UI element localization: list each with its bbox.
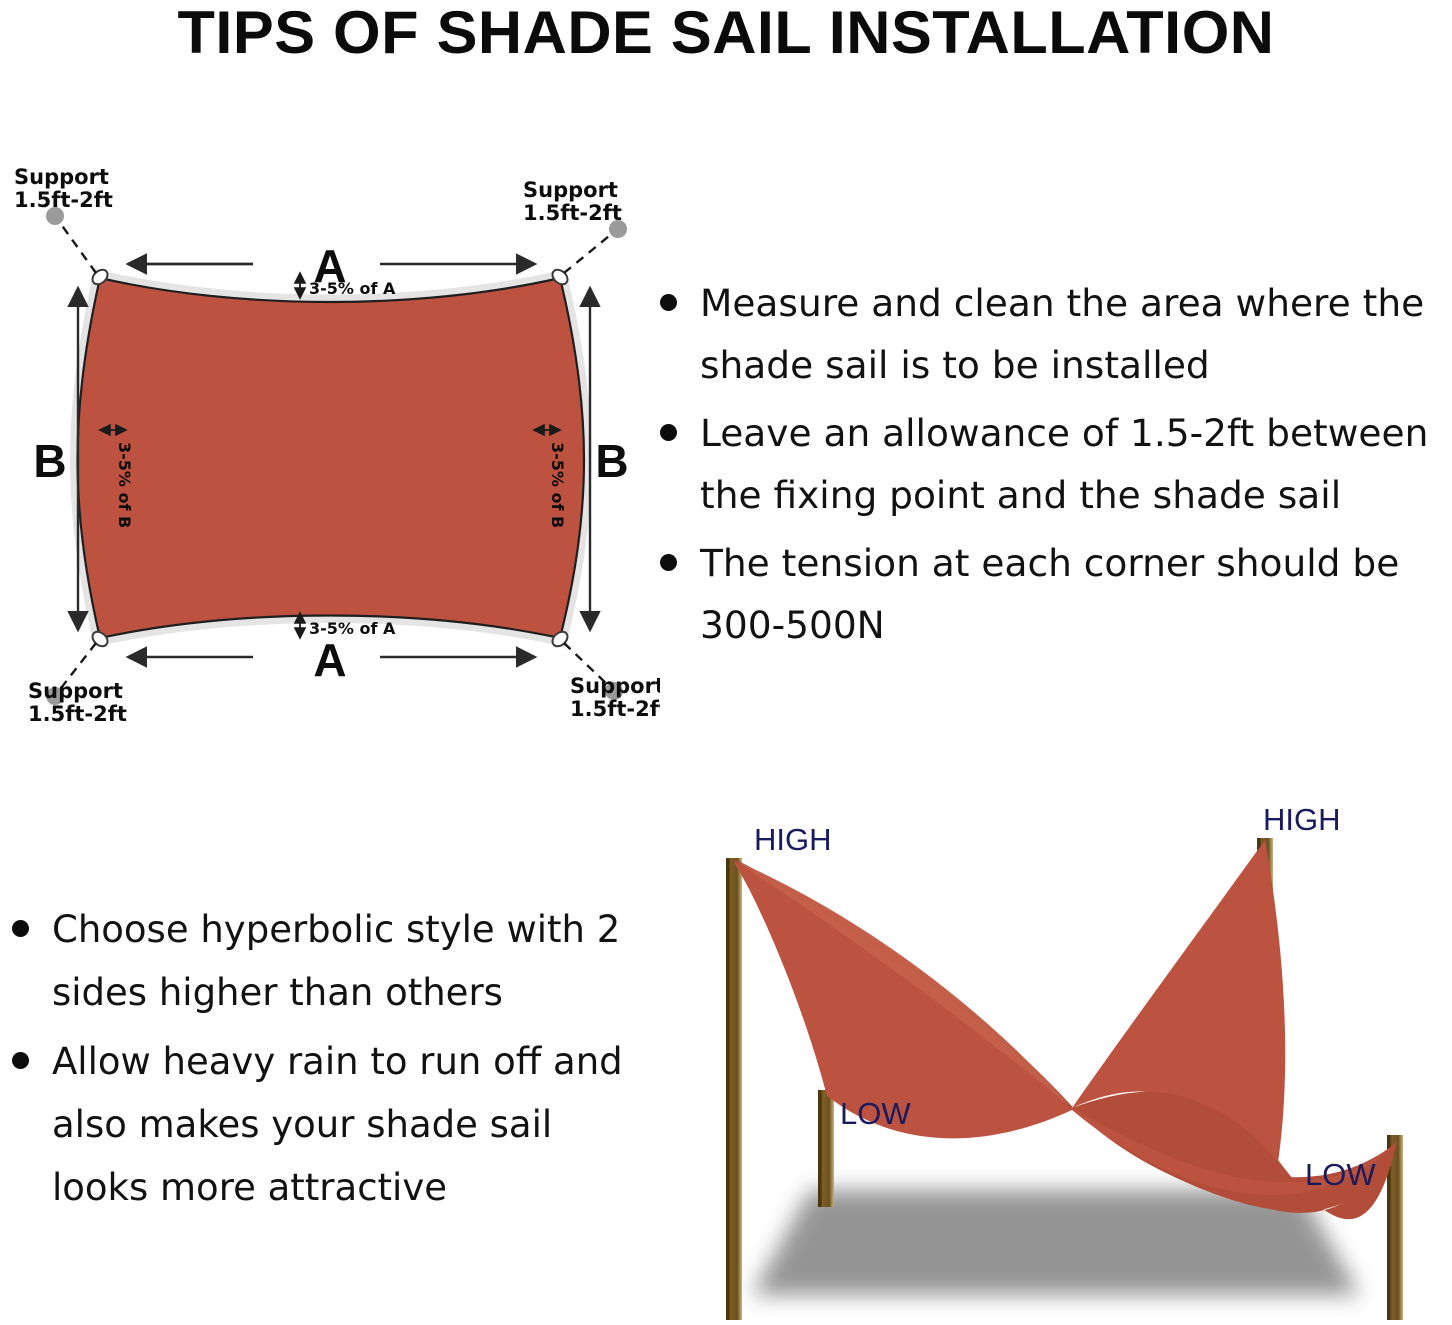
list-item: Choose hyperbolic style with 2 sides hig… — [0, 898, 636, 1024]
curvature-label-bottom: 3-5% of A — [309, 619, 396, 638]
support-label-bottom-left-line2: 1.5ft-2ft — [28, 702, 127, 726]
support-label-bottom-right-line2: 1.5ft-2ft — [570, 697, 660, 721]
post-low-left — [818, 1090, 834, 1207]
label-low-right: LOW — [1305, 1157, 1376, 1192]
support-label-top-left-line2: 1.5ft-2ft — [14, 188, 113, 212]
shade-sail-fabric — [78, 278, 585, 638]
support-label-bottom-right-line1: Support — [570, 674, 660, 698]
support-label-top-left-line1: Support — [14, 165, 109, 189]
support-label-top-right-line1: Support — [523, 178, 618, 202]
page-title: TIPS OF SHADE SAIL INSTALLATION — [0, 0, 1452, 67]
list-item: Leave an allowance of 1.5-2ft between th… — [648, 402, 1452, 526]
hyperbolic-style-tips-list: Choose hyperbolic style with 2 sides hig… — [0, 898, 636, 1225]
hyperbolic-shade-sail-illustration: HIGH HIGH LOW LOW — [660, 790, 1452, 1325]
dimension-letter-A-bottom: A — [313, 634, 346, 686]
curvature-label-right: 3-5% of B — [548, 442, 567, 528]
curvature-label-left: 3-5% of B — [115, 442, 134, 528]
dimension-letter-B-left: B — [33, 435, 66, 487]
support-label-top-right-line2: 1.5ft-2ft — [523, 201, 622, 225]
installation-tips-list: Measure and clean the area where the sha… — [648, 272, 1452, 662]
dimension-letter-B-right: B — [595, 435, 628, 487]
list-item: Measure and clean the area where the sha… — [648, 272, 1452, 396]
post-high-left — [726, 858, 742, 1320]
infographic-page: TIPS OF SHADE SAIL INSTALLATION — [0, 0, 1452, 1325]
support-label-bottom-left-line1: Support — [28, 679, 123, 703]
label-high-right: HIGH — [1263, 802, 1341, 837]
list-item: Allow heavy rain to run off and also mak… — [0, 1030, 636, 1219]
label-low-left: LOW — [840, 1096, 911, 1131]
curvature-label-top: 3-5% of A — [309, 279, 396, 298]
label-high-left: HIGH — [754, 822, 832, 857]
list-item: The tension at each corner should be 300… — [648, 532, 1452, 656]
rectangular-shade-sail-dimension-diagram: A A B B 3-5% of A 3-5% of A 3-5% of B 3-… — [0, 160, 660, 730]
